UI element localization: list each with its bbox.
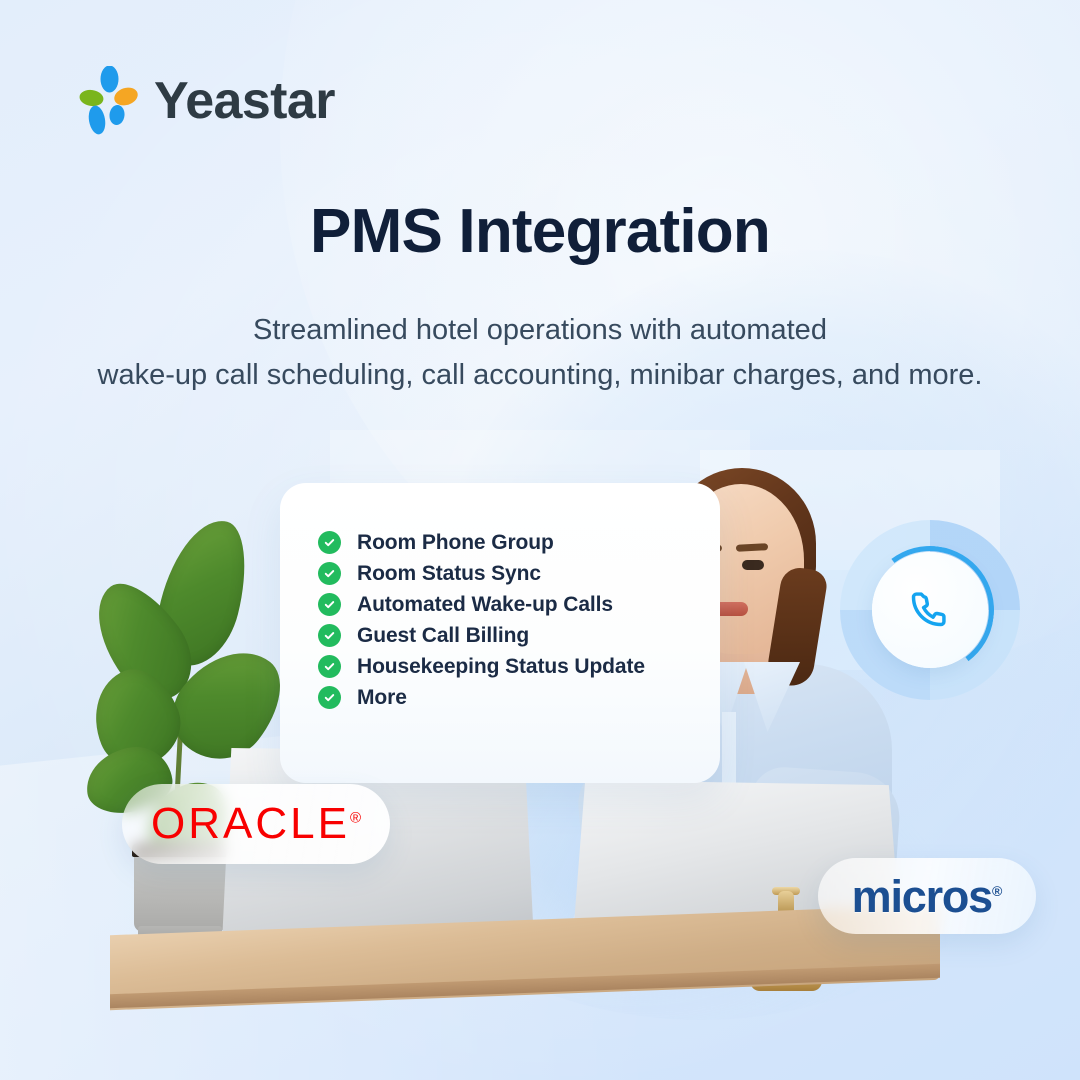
micros-label: micros	[852, 871, 992, 922]
list-item: Guest Call Billing	[318, 620, 645, 651]
list-item-label: Guest Call Billing	[357, 624, 529, 648]
check-circle-icon	[318, 531, 341, 554]
partner-badge-micros[interactable]: micros®	[818, 858, 1036, 934]
brand-wordmark: Yeastar	[154, 75, 335, 127]
partner-badge-oracle[interactable]: ORACLE®	[122, 784, 390, 864]
list-item-label: Housekeeping Status Update	[357, 655, 645, 679]
list-item-label: Automated Wake-up Calls	[357, 593, 613, 617]
micros-wordmark: micros®	[852, 874, 1003, 919]
list-item: More	[318, 682, 645, 713]
feature-list: Room Phone Group Room Status Sync Automa…	[318, 527, 645, 713]
list-item: Room Phone Group	[318, 527, 645, 558]
list-item: Housekeeping Status Update	[318, 651, 645, 682]
person-eye	[742, 560, 764, 570]
brand-logo[interactable]: Yeastar	[78, 66, 335, 136]
yeastar-pinwheel-logo-icon	[78, 66, 140, 136]
list-item: Room Status Sync	[318, 558, 645, 589]
list-item-label: Room Phone Group	[357, 531, 554, 555]
list-item-label: More	[357, 686, 407, 710]
feature-card: Room Phone Group Room Status Sync Automa…	[280, 483, 720, 783]
check-circle-icon	[318, 562, 341, 585]
check-circle-icon	[318, 655, 341, 678]
page-subtitle: Streamlined hotel operations with automa…	[0, 308, 1080, 398]
list-item-label: Room Status Sync	[357, 562, 541, 586]
micros-registered-mark: ®	[992, 883, 1002, 899]
subtitle-line-1: Streamlined hotel operations with automa…	[0, 308, 1080, 353]
check-circle-icon	[318, 624, 341, 647]
oracle-registered-mark: ®	[350, 809, 361, 826]
check-circle-icon	[318, 593, 341, 616]
page-title: PMS Integration	[0, 196, 1080, 267]
subtitle-line-2: wake-up call scheduling, call accounting…	[0, 353, 1080, 398]
list-item: Automated Wake-up Calls	[318, 589, 645, 620]
check-circle-icon	[318, 686, 341, 709]
oracle-wordmark: ORACLE®	[151, 802, 361, 846]
oracle-label: ORACLE	[151, 799, 350, 848]
poster-canvas: Yeastar PMS Integration Streamlined hote…	[0, 0, 1080, 1080]
